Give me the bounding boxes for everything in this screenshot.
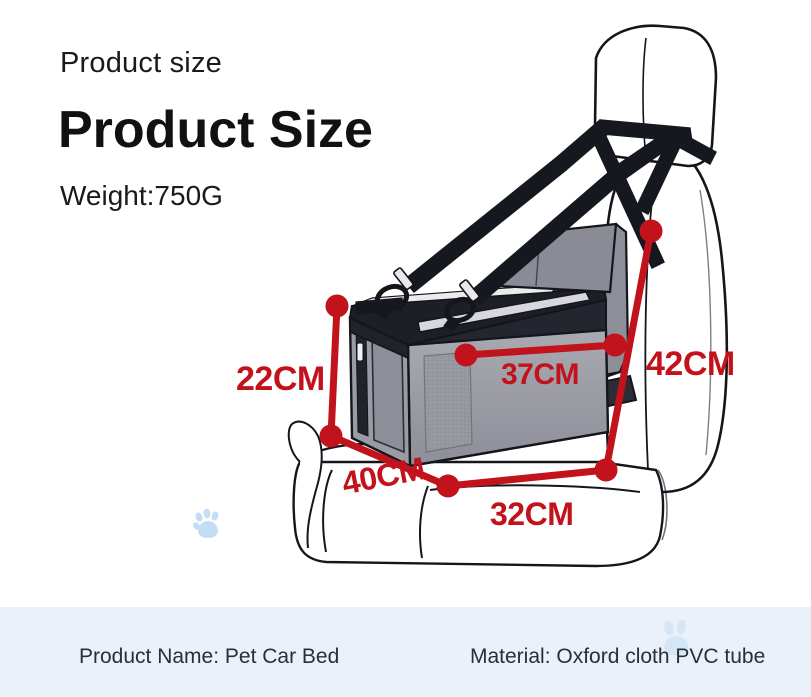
dimension-label-42cm: 42CM bbox=[646, 345, 735, 384]
dimension-label-32cm: 32CM bbox=[490, 496, 573, 533]
dimension-line-22cm bbox=[331, 306, 337, 436]
footer-material: Material: Oxford cloth PVC tube bbox=[470, 645, 765, 669]
dimension-label-22cm: 22CM bbox=[236, 360, 325, 399]
footer-bar: Product Name: Pet Car Bed Material: Oxfo… bbox=[0, 607, 811, 697]
footer-product-name: Product Name: Pet Car Bed bbox=[79, 645, 339, 669]
paw-print-icon bbox=[188, 503, 228, 543]
product-size-infographic: Product size Product Size Weight:750G bbox=[0, 0, 811, 697]
product-diagram bbox=[0, 0, 811, 610]
dimension-label-37cm: 37CM bbox=[501, 358, 579, 392]
